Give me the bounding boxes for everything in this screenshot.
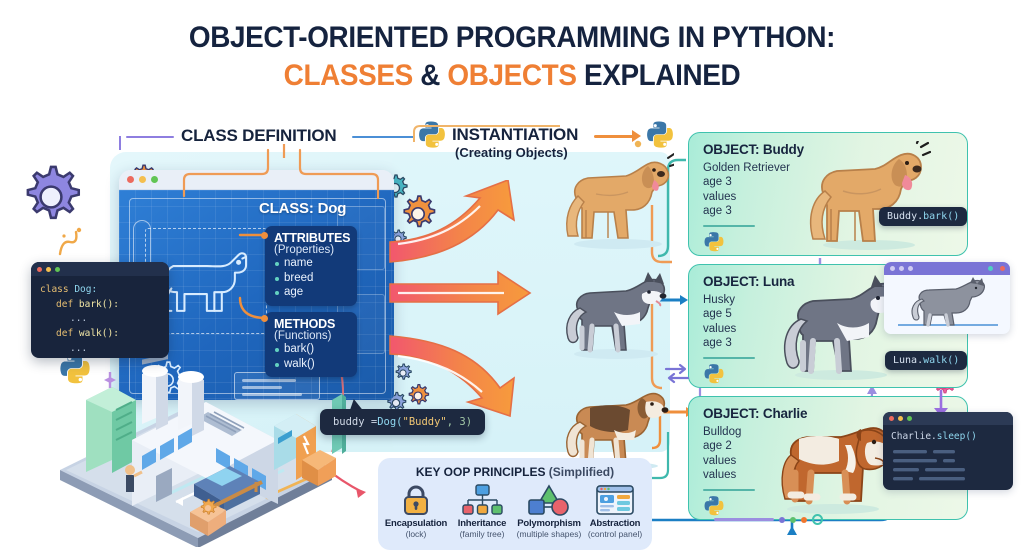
code-line: def walk(): (40, 327, 160, 342)
object-attr-line: values (703, 468, 741, 482)
object-attr-line: age 3 (703, 336, 736, 350)
progress-indicator (714, 514, 823, 525)
python-logo-icon (703, 231, 725, 253)
multiple-shapes-icon (515, 484, 583, 516)
minimize-icon[interactable] (899, 266, 904, 271)
principle-sub: (family tree) (448, 529, 516, 539)
object-attr-line: values (703, 190, 790, 204)
principle-name: Abstraction (581, 518, 649, 529)
object-attr-line: age 5 (703, 307, 736, 321)
husky-walking-preview-icon (884, 275, 1010, 333)
header-rule-left (126, 136, 174, 138)
attribute-item: age (274, 285, 348, 300)
principle-polymorphism[interactable]: Polymorphism (multiple shapes) (515, 484, 583, 539)
close-icon[interactable] (890, 266, 895, 271)
stage-label-instantiation: INSTANTIATION (452, 125, 578, 145)
principle-sub: (multiple shapes) (515, 529, 583, 539)
principle-encapsulation[interactable]: Encapsulation (lock) (382, 484, 450, 539)
object-attr-line: age 2 (703, 439, 741, 453)
window-titlebar (119, 170, 394, 190)
class-code-window: class Dog: def bark(): ... def walk(): .… (31, 262, 169, 358)
progress-dot (790, 517, 796, 523)
object-attr-line: Golden Retriever (703, 161, 790, 175)
methods-subtitle: (Functions) (274, 330, 348, 342)
oop-principles-panel: KEY OOP PRINCIPLES (Simplified) Encapsul… (378, 458, 652, 550)
family-tree-icon (448, 484, 516, 516)
principle-sub: (lock) (382, 529, 450, 539)
attributes-card: ATTRIBUTES (Properties) name breed age (265, 226, 357, 306)
principle-abstraction[interactable]: Abstraction (control panel) (581, 484, 649, 539)
object-divider (703, 357, 755, 359)
attribute-item: breed (274, 271, 348, 286)
progress-ring (812, 514, 823, 525)
maximize-icon[interactable] (55, 267, 60, 272)
title-ampersand: & (413, 59, 448, 92)
attributes-subtitle: (Properties) (274, 244, 348, 256)
object-attributes: Husky age 5 values age 3 (703, 293, 736, 351)
methods-title: METHODS (274, 317, 348, 331)
maximize-icon[interactable] (908, 266, 913, 271)
python-logo-icon (703, 363, 725, 385)
sparkle-decoration-icon (52, 222, 92, 262)
title-classes: CLASSES (284, 59, 413, 92)
object-divider (703, 489, 755, 491)
attribute-item: name (274, 256, 348, 271)
title-line-1: OBJECT-ORIENTED PROGRAMMING IN PYTHON: (36, 20, 988, 55)
method-item: walk() (274, 357, 348, 372)
charlie-code-window: Charlie.sleep() (883, 412, 1013, 490)
object-title: OBJECT: Buddy (703, 142, 804, 157)
code-line: class Dog: (40, 283, 160, 298)
principle-name: Inheritance (448, 518, 516, 529)
code-content: class Dog: def bark(): ... def walk(): .… (31, 276, 169, 358)
object-attr-line: age 3 (703, 175, 790, 189)
dog-husky-icon (556, 268, 672, 360)
python-logo-icon (417, 120, 447, 150)
instantiation-arrows (388, 180, 548, 430)
title-objects: OBJECTS (447, 59, 576, 92)
dog-golden-retriever-icon (556, 152, 674, 250)
object-attr-line: age 3 (703, 204, 790, 218)
instantiation-code-pill: buddy = Dog("Buddy", 3) (320, 409, 485, 435)
object-attr-line: Bulldog (703, 425, 741, 439)
object-attributes: Bulldog age 2 values values (703, 425, 741, 483)
close-icon[interactable] (889, 416, 894, 421)
lock-icon (382, 484, 450, 516)
window-titlebar (883, 412, 1013, 425)
principle-name: Encapsulation (382, 518, 450, 529)
methods-card: METHODS (Functions) bark() walk() (265, 312, 357, 377)
code-pill-luna-walk: Luna.walk() (885, 351, 967, 370)
object-attr-line: values (703, 454, 741, 468)
window-titlebar (31, 262, 169, 276)
code-pill-buddy-bark: Buddy.bark() (879, 207, 967, 226)
object-attr-line: Husky (703, 293, 736, 307)
object-card-buddy[interactable]: OBJECT: Buddy Golden Retriever age 3 val… (688, 132, 968, 256)
control-panel-icon (581, 484, 649, 516)
principle-name: Polymorphism (515, 518, 583, 529)
class-heading: CLASS: Dog (259, 200, 346, 217)
object-attributes: Golden Retriever age 3 values age 3 (703, 161, 790, 219)
luna-preview-window (884, 262, 1010, 334)
python-logo-icon (645, 120, 675, 150)
page-title: OBJECT-ORIENTED PROGRAMMING IN PYTHON: C… (0, 20, 1024, 94)
object-attr-line: values (703, 322, 736, 336)
title-line-2: CLASSES & OBJECTS EXPLAINED (36, 58, 988, 93)
infographic-canvas: OBJECT-ORIENTED PROGRAMMING IN PYTHON: C… (0, 0, 1024, 559)
progress-dot (801, 517, 807, 523)
minimize-icon[interactable] (139, 176, 146, 183)
title-explained: EXPLAINED (577, 59, 741, 92)
window-titlebar (884, 262, 1010, 275)
close-icon[interactable] (127, 176, 134, 183)
code-line: ... (40, 312, 160, 327)
progress-bar (714, 518, 774, 521)
principles-title: KEY OOP PRINCIPLES (Simplified) (378, 465, 652, 479)
code-placeholder-lines (883, 446, 1013, 488)
attributes-connector-dot (261, 232, 268, 239)
method-item: bark() (274, 342, 348, 357)
close-icon[interactable] (37, 267, 42, 272)
stage-label-instantiation-sub: (Creating Objects) (455, 145, 568, 160)
status-dot (1000, 266, 1005, 271)
dog-golden-retriever-icon (801, 141, 931, 253)
code-line: ... (40, 342, 160, 357)
methods-connector-dot (261, 315, 268, 322)
principle-sub: (control panel) (581, 529, 649, 539)
minimize-icon[interactable] (898, 416, 903, 421)
header-rule-mid (352, 136, 414, 138)
code-line: def bark(): (40, 298, 160, 313)
attributes-title: ATTRIBUTES (274, 231, 348, 245)
dog-beagle-icon (556, 382, 672, 470)
swap-arrows-icon (664, 362, 690, 384)
progress-dot (779, 517, 785, 523)
status-dot (988, 266, 993, 271)
factory-illustration (46, 352, 346, 547)
charlie-code-content: Charlie.sleep() (883, 425, 1013, 448)
dog-bulldog-icon (769, 409, 899, 517)
maximize-icon[interactable] (151, 176, 158, 183)
stage-label-class-definition: CLASS DEFINITION (181, 126, 336, 146)
dot-decoration-icon (630, 136, 646, 152)
maximize-icon[interactable] (907, 416, 912, 421)
minimize-icon[interactable] (46, 267, 51, 272)
principle-inheritance[interactable]: Inheritance (family tree) (448, 484, 516, 539)
object-divider (703, 225, 755, 227)
